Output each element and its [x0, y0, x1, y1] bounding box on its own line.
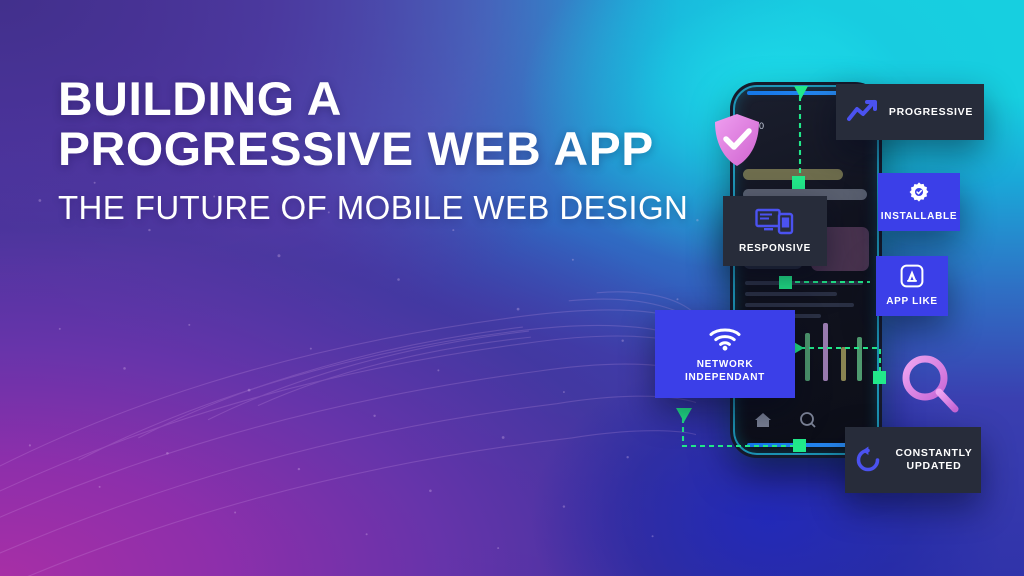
home-icon [755, 413, 771, 427]
feature-card-applike[interactable]: APP LIKE [876, 256, 948, 316]
feature-card-label: RESPONSIVE [739, 242, 811, 255]
shield-check-icon [712, 112, 762, 168]
poster-canvas: BUILDING A PROGRESSIVE WEB APP THE FUTUR… [0, 0, 1024, 576]
devices-icon [755, 207, 795, 235]
feature-card-label: NETWORK INDEPENDANT [685, 358, 765, 384]
feature-card-responsive[interactable]: RESPONSIVE [723, 196, 827, 266]
headline-line-1: BUILDING A [58, 74, 731, 124]
wifi-icon [708, 325, 742, 351]
headline-subtitle: THE FUTURE OF MOBILE WEB DESIGN [58, 190, 718, 226]
magnifier-icon [898, 352, 964, 418]
feature-card-label-line1: NETWORK [697, 359, 754, 370]
feature-card-updated[interactable]: CONSTANTLY UPDATED [845, 427, 981, 493]
feature-card-network[interactable]: NETWORK INDEPENDANT [655, 310, 795, 398]
feature-card-label: APP LIKE [886, 295, 938, 308]
app-store-icon [900, 264, 924, 288]
phone-content-pill-1 [743, 169, 843, 180]
feature-card-label-line1: CONSTANTLY [895, 447, 972, 459]
trending-up-icon [847, 99, 877, 125]
refresh-icon [853, 445, 883, 475]
chart-bar [823, 323, 828, 381]
feature-card-progressive[interactable]: PROGRESSIVE [836, 84, 984, 140]
feature-card-label-line2: INDEPENDANT [685, 372, 765, 383]
chart-bar [857, 337, 862, 381]
chart-bar [841, 347, 846, 381]
feature-card-label: CONSTANTLY UPDATED [895, 447, 972, 473]
feature-card-label-line2: UPDATED [907, 460, 962, 472]
headline-line-2: PROGRESSIVE WEB APP [58, 124, 731, 174]
gear-check-icon [908, 181, 930, 203]
feature-card-label: INSTALLABLE [881, 210, 957, 223]
headline-block: BUILDING A PROGRESSIVE WEB APP THE FUTUR… [58, 74, 718, 226]
feature-card-installable[interactable]: INSTALLABLE [878, 173, 960, 231]
chart-bar [805, 333, 810, 381]
feature-card-label: PROGRESSIVE [889, 106, 973, 119]
search-icon [801, 413, 815, 427]
